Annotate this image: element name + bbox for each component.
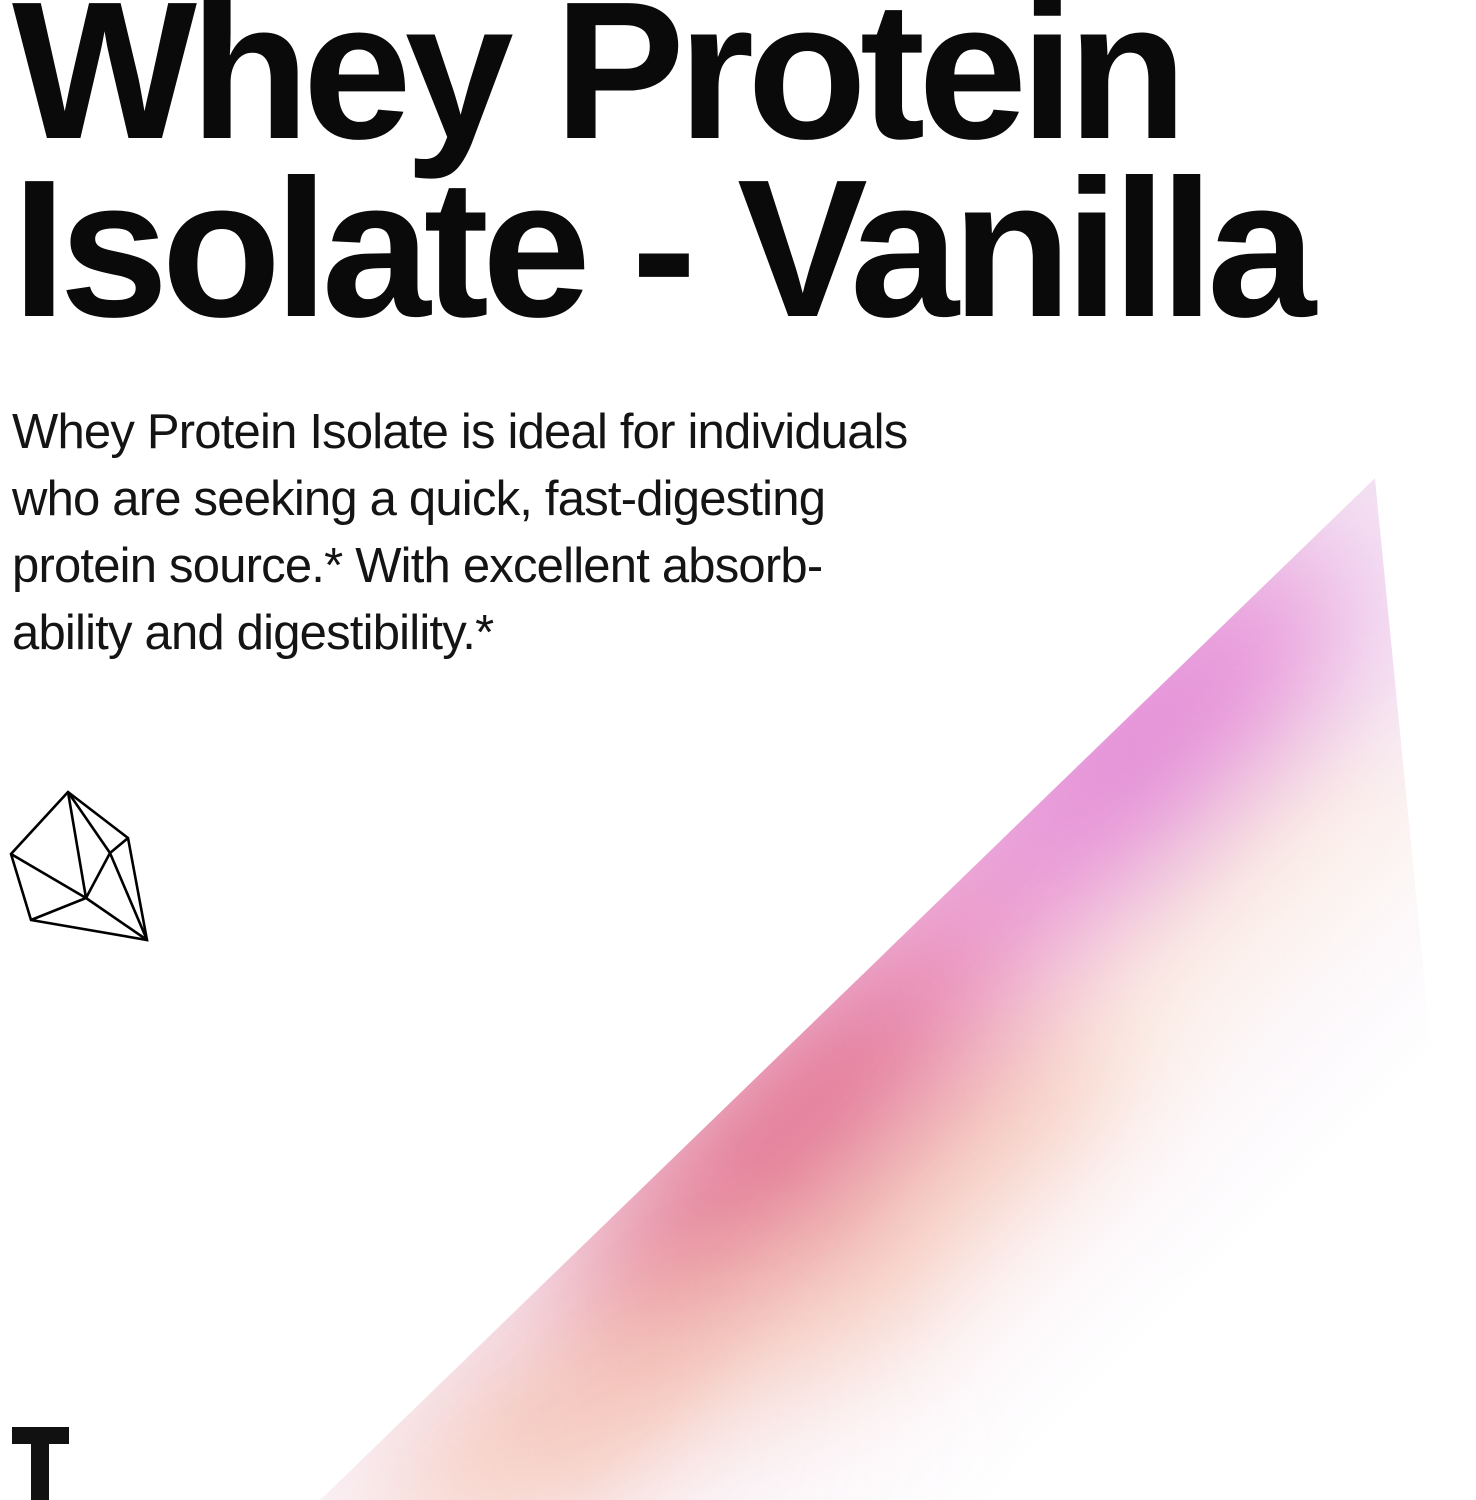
description-line-3: protein source.* With excellent absorb- bbox=[12, 533, 1092, 600]
description-line-4: ability and digestibility.* bbox=[12, 600, 1092, 667]
brand-letter-t-logo bbox=[10, 1425, 90, 1500]
product-description-card: Whey Protein Isolate - Vanilla Whey Prot… bbox=[0, 0, 1476, 1500]
description-line-1: Whey Protein Isolate is ideal for indivi… bbox=[12, 399, 1092, 466]
product-description: Whey Protein Isolate is ideal for indivi… bbox=[12, 399, 1092, 667]
description-line-2: who are seeking a quick, fast-digesting bbox=[12, 466, 1092, 533]
title-line-1: Whey Protein bbox=[12, 0, 1412, 160]
page-title: Whey Protein Isolate - Vanilla bbox=[12, 0, 1412, 338]
crystal-wireframe-icon bbox=[6, 780, 178, 956]
title-line-2: Isolate - Vanilla bbox=[12, 160, 1412, 338]
